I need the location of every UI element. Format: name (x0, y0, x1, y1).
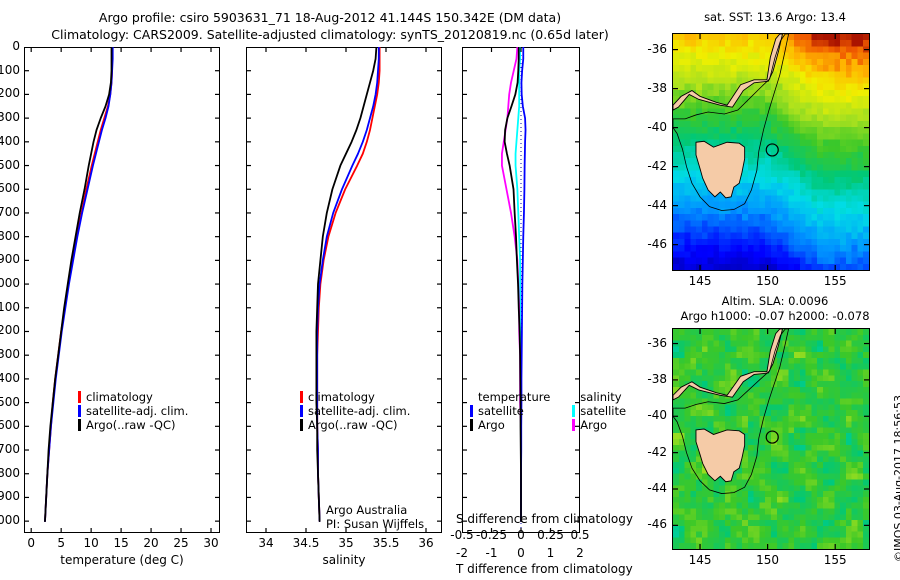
longitude-tick-label: 150 (750, 553, 786, 567)
legend-swatch-satellite-adj-salinity (300, 405, 303, 417)
depth-tick-label: 1600 (0, 418, 20, 432)
salinity-diff-tick-label: 0.5 (558, 528, 602, 542)
latitude-tick-label: -40 (637, 408, 667, 422)
legend-swatch-argo (78, 419, 81, 431)
depth-tick-label: 1100 (0, 300, 20, 314)
imos-credit: ©IMOS 03-Aug-2017 18:56:53 (892, 395, 900, 562)
legend-item-salinity-satellite: satellite (572, 404, 626, 418)
salinity-legend: climatology satellite-adj. clim. Argo(..… (300, 390, 410, 432)
legend-swatch-climatology-salinity (300, 391, 303, 403)
latitude-tick-label: -38 (637, 372, 667, 386)
longitude-tick-label: 155 (817, 553, 853, 567)
latitude-tick-label: -44 (637, 198, 667, 212)
legend-item-satellite-adj-salinity: satellite-adj. clim. (300, 404, 410, 418)
latitude-tick-label: -36 (637, 42, 667, 56)
temperature-profile-plot (24, 47, 220, 533)
difference-legend-salinity-group: salinity satellite Argo (572, 390, 626, 432)
legend-header-temperature-label: temperature (478, 390, 550, 404)
latitude-tick-label: -46 (637, 517, 667, 531)
legend-item-argo-salinity: Argo(..raw -QC) (300, 418, 410, 432)
legend-item-temperature-argo: Argo (470, 418, 550, 432)
difference-profile-plot (462, 47, 580, 533)
difference-legend-temperature-group: temperature satellite Argo (470, 390, 550, 432)
depth-tick-label: 500 (0, 158, 20, 172)
depth-tick-label: 300 (0, 110, 20, 124)
legend-label-salinity-satellite: satellite (580, 404, 626, 418)
longitude-tick-label: 155 (817, 274, 853, 288)
legend-swatch-salinity-satellite (572, 405, 575, 417)
legend-item-temperature-satellite: satellite (470, 404, 550, 418)
argo-australia-note-line1: Argo Australia (326, 503, 407, 517)
legend-header-salinity: salinity (572, 390, 626, 404)
sla-map-canvas (673, 329, 869, 549)
depth-tick-label: 200 (0, 86, 20, 100)
legend-header-temperature: temperature (470, 390, 550, 404)
legend-label-temperature-satellite: satellite (478, 404, 524, 418)
latitude-tick-label: -44 (637, 481, 667, 495)
sla-map-title-line1: Altim. SLA: 0.0096 (660, 294, 890, 308)
latitude-tick-label: -40 (637, 120, 667, 134)
longitude-tick-label: 145 (682, 553, 718, 567)
legend-swatch-salinity-argo (572, 419, 575, 431)
depth-tick-label: 700 (0, 205, 20, 219)
argo-australia-note-line2: PI: Susan Wijffels (326, 517, 424, 531)
depth-tick-label: 100 (0, 63, 20, 77)
plot-title-line2: Climatology: CARS2009. Satellite-adjuste… (0, 27, 660, 42)
salinity-profile-plot (246, 47, 442, 533)
depth-tick-label: 1300 (0, 347, 20, 361)
legend-label-temperature-argo: Argo (478, 418, 505, 432)
latitude-tick-label: -42 (637, 159, 667, 173)
legend-label-climatology-salinity: climatology (308, 390, 375, 404)
legend-label-satellite-adj: satellite-adj. clim. (86, 404, 188, 418)
depth-tick-label: 0 (0, 39, 20, 53)
depth-tick-label: 2000 (0, 513, 20, 527)
legend-label-climatology: climatology (86, 390, 153, 404)
depth-tick-label: 1200 (0, 323, 20, 337)
longitude-tick-label: 150 (750, 274, 786, 288)
legend-item-argo: Argo(..raw -QC) (78, 418, 188, 432)
depth-tick-label: 600 (0, 181, 20, 195)
latitude-tick-label: -38 (637, 81, 667, 95)
depth-tick-label: 1400 (0, 371, 20, 385)
legend-label-salinity-argo: Argo (580, 418, 607, 432)
salinity-tick-label: 35.5 (364, 536, 408, 550)
depth-tick-label: 1500 (0, 395, 20, 409)
legend-label-argo: Argo(..raw -QC) (86, 418, 176, 432)
depth-tick-label: 1900 (0, 489, 20, 503)
legend-swatch-argo-salinity (300, 419, 303, 431)
plot-title-line1: Argo profile: csiro 5903631_71 18-Aug-20… (0, 10, 660, 25)
depth-tick-label: 1800 (0, 466, 20, 480)
depth-tick-label: 1700 (0, 442, 20, 456)
sla-map (672, 328, 870, 550)
legend-item-climatology-salinity: climatology (300, 390, 410, 404)
temperature-tick-label: 30 (191, 536, 231, 550)
legend-swatch-satellite-adj (78, 405, 81, 417)
longitude-tick-label: 145 (682, 274, 718, 288)
legend-item-satellite-adj: satellite-adj. clim. (78, 404, 188, 418)
difference-temperature-axis-label: T difference from climatology (456, 562, 586, 576)
temperature-diff-tick-label: 2 (562, 546, 598, 560)
sst-map-canvas (673, 34, 869, 270)
legend-item-climatology: climatology (78, 390, 188, 404)
legend-swatch-temperature-argo (470, 419, 473, 431)
depth-tick-label: 800 (0, 229, 20, 243)
depth-tick-label: 1000 (0, 276, 20, 290)
difference-legend: temperature satellite Argo salinity sate… (470, 390, 626, 432)
legend-swatch-climatology (78, 391, 81, 403)
sst-map-title: sat. SST: 13.6 Argo: 13.4 (660, 10, 890, 24)
salinity-axis-label: salinity (246, 553, 442, 567)
salinity-tick-label: 34.5 (284, 536, 328, 550)
latitude-tick-label: -46 (637, 237, 667, 251)
salinity-tick-label: 35 (324, 536, 368, 550)
sla-map-title-line2: Argo h1000: -0.07 h2000: -0.078 (655, 309, 895, 323)
difference-salinity-axis-label: S difference from climatology (456, 512, 586, 526)
temperature-axis-label: temperature (deg C) (24, 553, 220, 567)
legend-item-salinity-argo: Argo (572, 418, 626, 432)
latitude-tick-label: -42 (637, 445, 667, 459)
temperature-legend: climatology satellite-adj. clim. Argo(..… (78, 390, 188, 432)
sst-map (672, 33, 870, 271)
depth-tick-label: 400 (0, 134, 20, 148)
legend-header-salinity-label: salinity (580, 390, 621, 404)
legend-label-argo-salinity: Argo(..raw -QC) (308, 418, 398, 432)
salinity-tick-label: 34 (244, 536, 288, 550)
depth-tick-label: 900 (0, 252, 20, 266)
latitude-tick-label: -36 (637, 336, 667, 350)
legend-label-satellite-adj-salinity: satellite-adj. clim. (308, 404, 410, 418)
legend-swatch-temperature-satellite (470, 405, 473, 417)
